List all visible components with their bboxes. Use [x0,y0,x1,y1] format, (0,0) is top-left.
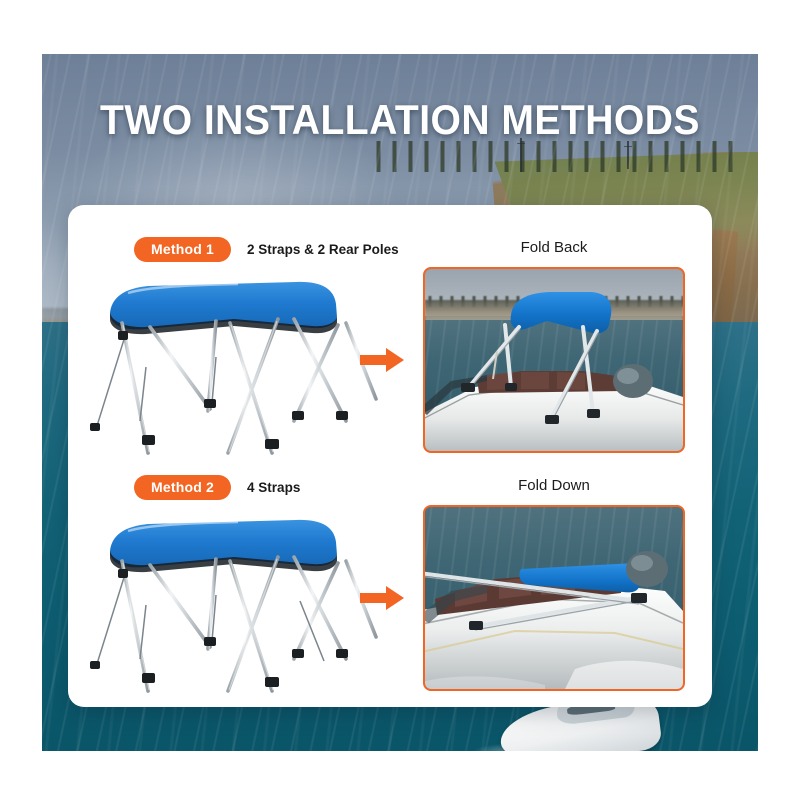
photo-boat-art [425,507,683,689]
arrow-right-icon [358,583,408,613]
method-1-header: Method 1 2 Straps & 2 Rear Poles [134,237,399,262]
method-1-fold-label: Fold Back [424,239,684,256]
method-2-fold-label: Fold Down [424,477,684,494]
method-2-badge: Method 2 [134,475,231,500]
bimini-frame [122,557,376,691]
method-2-header: Method 2 4 Straps [134,475,300,500]
method-1-photo [423,267,685,453]
method-1-bimini-diagram [88,271,388,456]
methods-card: Method 1 2 Straps & 2 Rear Poles Fold Ba… [68,205,712,707]
method-2-photo [423,505,685,691]
product-feature-image: TWO INSTALLATION METHODS Method 1 2 Stra… [0,0,800,800]
method-1-badge: Method 1 [134,237,231,262]
bimini-frame [122,319,376,453]
arrow-right-icon [358,345,408,375]
method-1-description: 2 Straps & 2 Rear Poles [247,242,399,257]
method-2-bimini-diagram [88,509,388,694]
photo-boat-art [425,269,683,451]
method-block-2: Method 2 4 Straps Fold Down [68,461,712,699]
method-block-1: Method 1 2 Straps & 2 Rear Poles Fold Ba… [68,223,712,461]
page-title: TWO INSTALLATION METHODS [28,96,772,144]
support-straps [96,333,216,429]
method-2-description: 4 Straps [247,480,300,495]
